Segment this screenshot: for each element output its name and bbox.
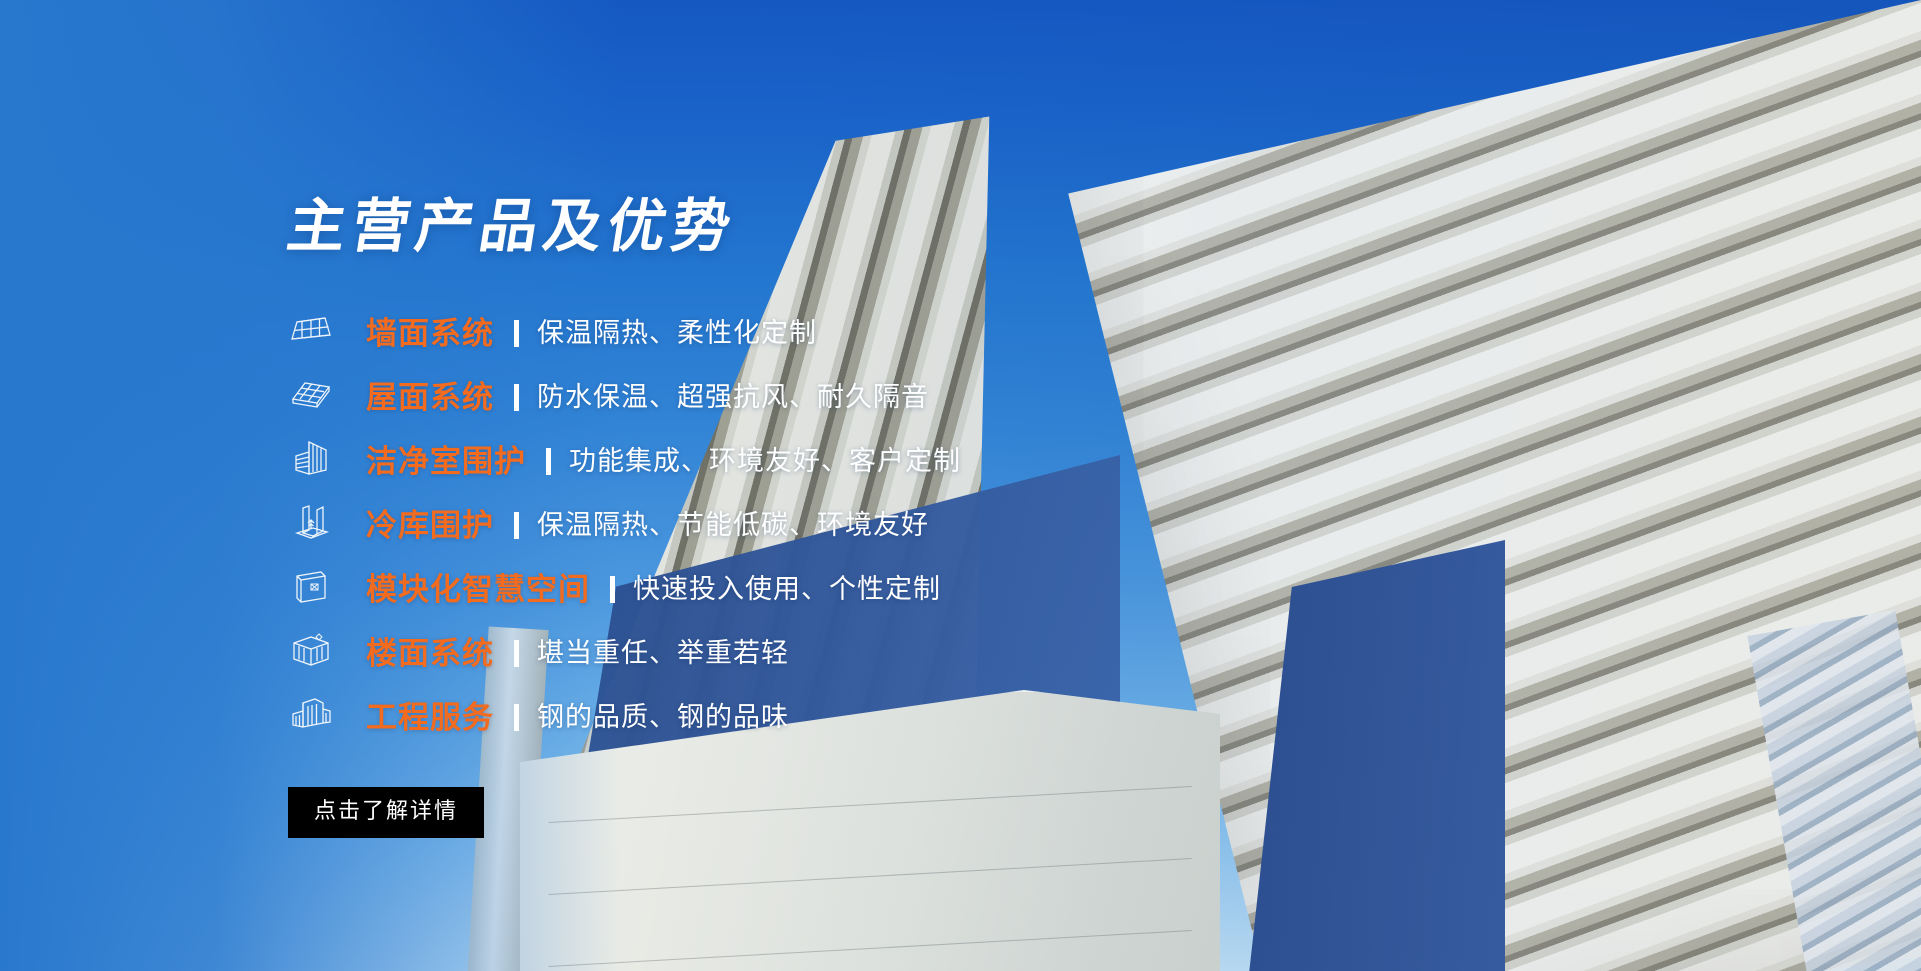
wall-panel-icon xyxy=(288,307,334,353)
cold-storage-icon xyxy=(288,499,334,545)
separator-bar xyxy=(514,384,519,411)
feature-name: 模块化智慧空间 xyxy=(366,564,590,609)
feature-description: 防水保温、超强抗风、耐久隔音 xyxy=(537,375,929,414)
list-item[interactable]: 墙面系统 保温隔热、柔性化定制 xyxy=(288,303,1188,358)
feature-name: 屋面系统 xyxy=(366,372,494,417)
feature-name: 墙面系统 xyxy=(366,308,494,353)
page-title: 主营产品及优势 xyxy=(283,196,1193,257)
feature-description: 保温隔热、柔性化定制 xyxy=(537,311,817,350)
feature-name: 冷库围护 xyxy=(366,500,494,545)
feature-description: 保温隔热、节能低碳、环境友好 xyxy=(537,503,929,542)
list-item[interactable]: 模块化智慧空间 快速投入使用、个性定制 xyxy=(288,559,1188,614)
feature-name: 楼面系统 xyxy=(366,628,494,673)
feature-list: 墙面系统 保温隔热、柔性化定制 屋面系统 xyxy=(288,303,1188,742)
separator-bar xyxy=(514,704,519,731)
separator-bar xyxy=(546,448,551,475)
feature-name: 洁净室围护 xyxy=(366,436,526,481)
separator-bar xyxy=(514,640,519,667)
list-item[interactable]: 屋面系统 防水保温、超强抗风、耐久隔音 xyxy=(288,367,1188,422)
modular-cube-icon xyxy=(288,563,334,609)
separator-bar xyxy=(610,576,615,603)
feature-description: 功能集成、环境友好、客户定制 xyxy=(569,439,961,478)
list-item[interactable]: 工程服务 钢的品质、钢的品味 xyxy=(288,687,1188,742)
feature-description: 堪当重任、举重若轻 xyxy=(537,631,789,670)
feature-description: 快速投入使用、个性定制 xyxy=(633,567,941,606)
feature-name: 工程服务 xyxy=(366,692,494,737)
engineering-buildings-icon xyxy=(288,691,334,737)
hero-banner: 主营产品及优势 墙面系统 保温隔热、柔性化定制 xyxy=(0,0,1921,971)
hero-content: 主营产品及优势 墙面系统 保温隔热、柔性化定制 xyxy=(288,196,1188,838)
cleanroom-building-icon xyxy=(288,435,334,481)
separator-bar xyxy=(514,320,519,347)
roof-panel-icon xyxy=(288,371,334,417)
feature-description: 钢的品质、钢的品味 xyxy=(537,695,789,734)
learn-more-button[interactable]: 点击了解详情 xyxy=(288,787,484,838)
list-item[interactable]: 冷库围护 保温隔热、节能低碳、环境友好 xyxy=(288,495,1188,550)
separator-bar xyxy=(514,512,519,539)
floor-deck-icon xyxy=(288,627,334,673)
list-item[interactable]: 洁净室围护 功能集成、环境友好、客户定制 xyxy=(288,431,1188,486)
list-item[interactable]: 楼面系统 堪当重任、举重若轻 xyxy=(288,623,1188,678)
